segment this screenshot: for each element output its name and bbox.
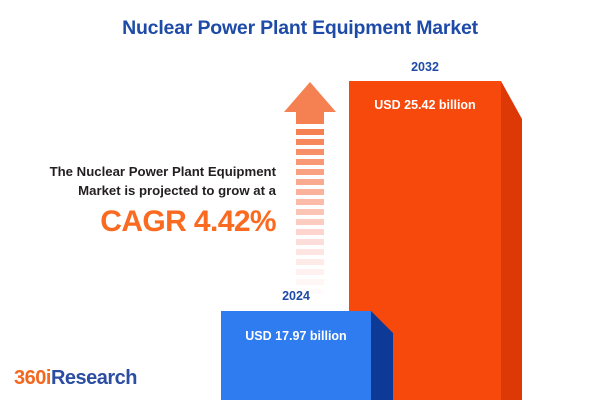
bar-label-2024: 2024 bbox=[221, 289, 371, 303]
up-arrow-icon bbox=[283, 80, 337, 295]
bar-2024-front-face bbox=[221, 311, 371, 400]
bar-2032-value-label: USD 25.42 billion bbox=[349, 98, 501, 112]
brand-logo: 360iResearch bbox=[14, 367, 137, 390]
cagr-value-text: CAGR 4.42% bbox=[8, 207, 276, 237]
page-title: Nuclear Power Plant Equipment Market bbox=[0, 17, 600, 40]
cagr-lead-text: The Nuclear Power Plant Equipment Market… bbox=[8, 163, 276, 200]
cagr-annotation: The Nuclear Power Plant Equipment Market… bbox=[8, 163, 276, 237]
infographic-canvas: Nuclear Power Plant Equipment Market 203… bbox=[0, 0, 600, 400]
cagr-lead-line2: Market is projected to grow at a bbox=[8, 182, 276, 201]
bar-2032-side-face bbox=[501, 81, 522, 400]
bar-2024: USD 17.97 billion bbox=[221, 311, 371, 400]
logo-text-research: Research bbox=[51, 367, 137, 389]
bar-label-2032: 2032 bbox=[349, 60, 501, 74]
cagr-lead-line1: The Nuclear Power Plant Equipment bbox=[8, 163, 276, 182]
bar-2024-value-label: USD 17.97 billion bbox=[221, 329, 371, 343]
logo-text-360i: 360i bbox=[14, 367, 51, 389]
